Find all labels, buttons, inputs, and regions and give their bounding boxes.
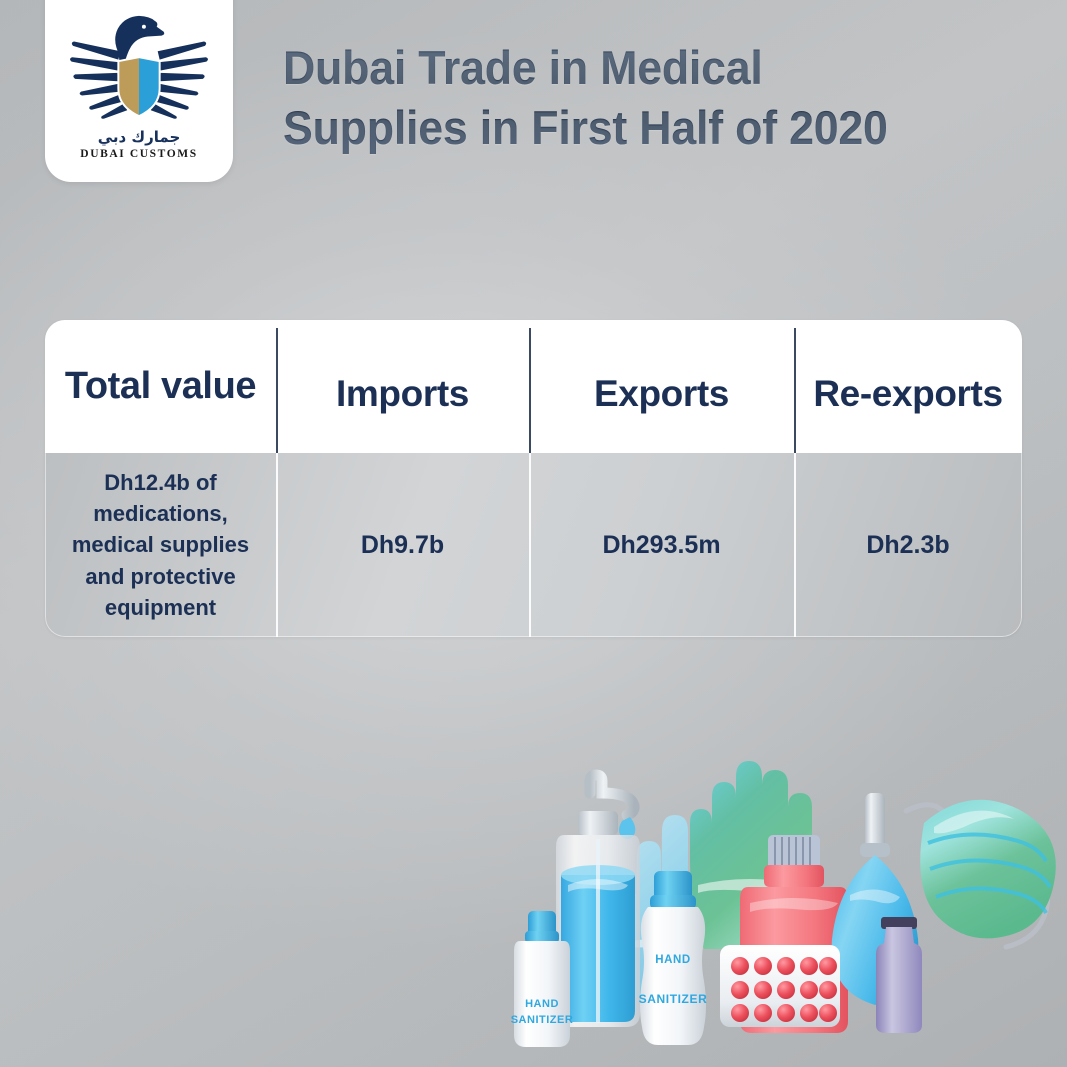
medium-bottle-label-line2: SANITIZER <box>639 992 708 1006</box>
medical-supplies-graphic: HAND SANITIZER HAND SANITIZER <box>498 735 1067 1067</box>
medical-supplies-illustration: HAND SANITIZER HAND SANITIZER <box>498 735 1067 1067</box>
surgical-face-mask-icon <box>906 800 1056 947</box>
logo-card: جمارك دبي DUBAI CUSTOMS <box>45 0 233 182</box>
pill-grid <box>731 957 837 1022</box>
page-title: Dubai Trade in Medical Supplies in First… <box>283 38 986 158</box>
logo-arabic-text: جمارك دبي <box>98 130 181 145</box>
dubai-customs-logo-icon <box>64 10 214 128</box>
table-header-row: Total value Imports Exports Re-exports <box>45 320 1022 453</box>
column-header-imports: Imports <box>276 320 529 453</box>
column-header-total-value: Total value <box>45 320 276 453</box>
table-data-row: Dh12.4b of medications, medical supplies… <box>45 453 1022 637</box>
trade-figures-table: Total value Imports Exports Re-exports D… <box>45 320 1022 637</box>
page-title-line-1: Dubai Trade in Medical <box>283 38 986 98</box>
medium-bottle-label-line1: HAND <box>655 954 691 966</box>
page-title-line-2: Supplies in First Half of 2020 <box>283 98 986 158</box>
pill-blister-pack-icon <box>720 945 840 1027</box>
cell-imports: Dh9.7b <box>276 453 529 637</box>
small-bottle-label-line1: HAND <box>525 998 559 1010</box>
cell-exports: Dh293.5m <box>529 453 794 637</box>
logo-english-text: DUBAI CUSTOMS <box>80 148 197 160</box>
cell-total-value: Dh12.4b of medications, medical supplies… <box>45 453 276 637</box>
column-header-re-exports: Re-exports <box>794 320 1022 453</box>
cell-re-exports: Dh2.3b <box>794 453 1022 637</box>
column-header-exports: Exports <box>529 320 794 453</box>
small-bottle-label-line2: SANITIZER <box>511 1014 574 1026</box>
